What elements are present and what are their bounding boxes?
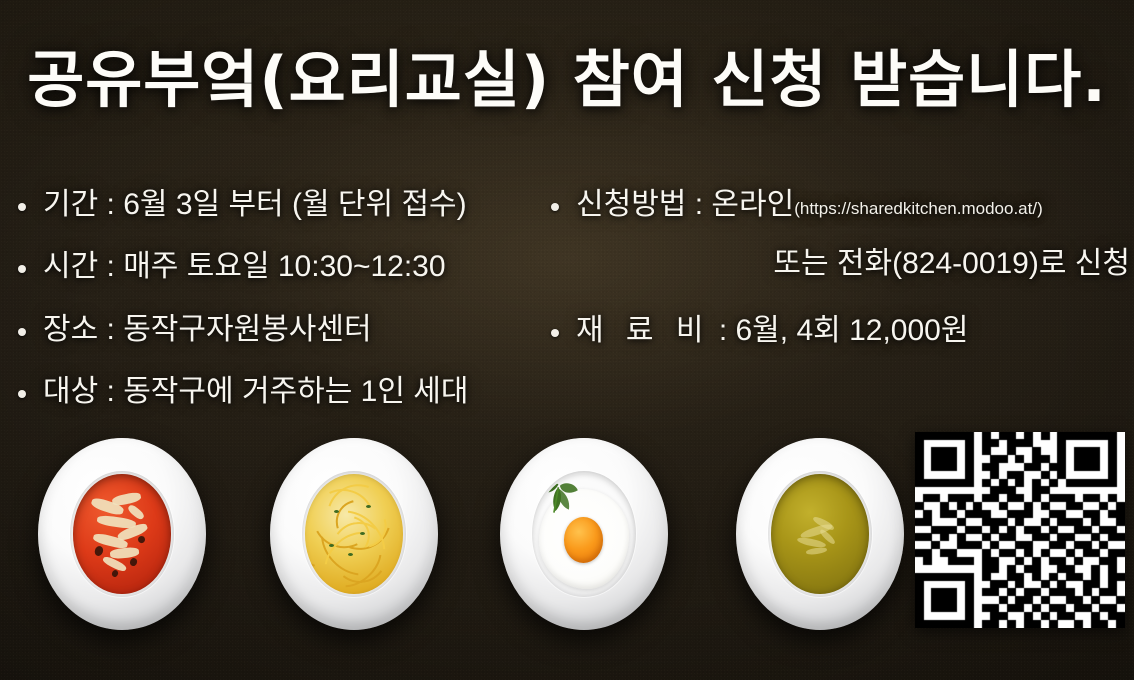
list-item: 장소 : 동작구자원봉사센터 (18, 311, 548, 349)
apply-method-text: 신청방법 : 온라인(https://sharedkitchen.modoo.a… (576, 186, 1043, 224)
bullet-dot-icon (18, 328, 26, 336)
time-text: 시간 : 매주 토요일 10:30~12:30 (43, 248, 446, 286)
dish-plate-spaghetti (270, 438, 438, 630)
bullet-dot-icon (18, 390, 26, 398)
dish-plate-curry-soup (736, 438, 904, 630)
fee-separator: : (710, 314, 735, 347)
list-item: 기간 : 6월 3일 부터 (월 단위 접수) (18, 186, 548, 224)
dish-plate-tomato-soup (38, 438, 206, 630)
fried-egg-image (535, 474, 632, 593)
apply-method-label: 신청방법 : 온라인 (576, 188, 794, 221)
dish-plate-fried-egg (500, 438, 668, 630)
qr-code[interactable] (915, 432, 1125, 628)
info-column-right: 신청방법 : 온라인(https://sharedkitchen.modoo.a… (551, 186, 1134, 375)
egg-yolk (564, 517, 603, 562)
list-item: 대상 : 동작구에 거주하는 1인 세대 (18, 373, 548, 411)
period-text: 기간 : 6월 3일 부터 (월 단위 접수) (43, 186, 467, 224)
apply-phone-text: 또는 전화(824-0019)로 신청 (551, 238, 1130, 282)
bullet-dot-icon (18, 265, 26, 273)
fee-label: 재 료 비 (576, 314, 710, 347)
bullet-dot-icon (551, 329, 559, 337)
qr-code-canvas[interactable] (915, 432, 1125, 628)
bullet-dot-icon (551, 203, 559, 211)
page-title: 공유부엌(요리교실) 참여 신청 받습니다. (0, 47, 1134, 112)
bullet-dot-icon (18, 203, 26, 211)
egg-white (539, 489, 629, 589)
list-item: 신청방법 : 온라인(https://sharedkitchen.modoo.a… (551, 186, 1134, 224)
curry-soup-image (771, 474, 868, 593)
poster-canvas: 공유부엌(요리교실) 참여 신청 받습니다. 기간 : 6월 3일 부터 (월 … (0, 0, 1134, 680)
target-text: 대상 : 동작구에 거주하는 1인 세대 (43, 373, 469, 411)
fee-text: 재 료 비 : 6월, 4회 12,000원 (576, 312, 968, 350)
basil-leaf-icon (536, 476, 581, 528)
info-column-left: 기간 : 6월 3일 부터 (월 단위 접수) 시간 : 매주 토요일 10:3… (18, 186, 548, 436)
spaghetti-image (305, 474, 402, 593)
fee-value: 6월, 4회 12,000원 (736, 314, 969, 347)
apply-url-link[interactable]: (https://sharedkitchen.modoo.at/) (794, 199, 1043, 218)
list-item: 재 료 비 : 6월, 4회 12,000원 (551, 312, 1134, 350)
tomato-soup-image (73, 474, 170, 593)
list-item: 시간 : 매주 토요일 10:30~12:30 (18, 248, 548, 286)
place-text: 장소 : 동작구자원봉사센터 (43, 311, 372, 349)
